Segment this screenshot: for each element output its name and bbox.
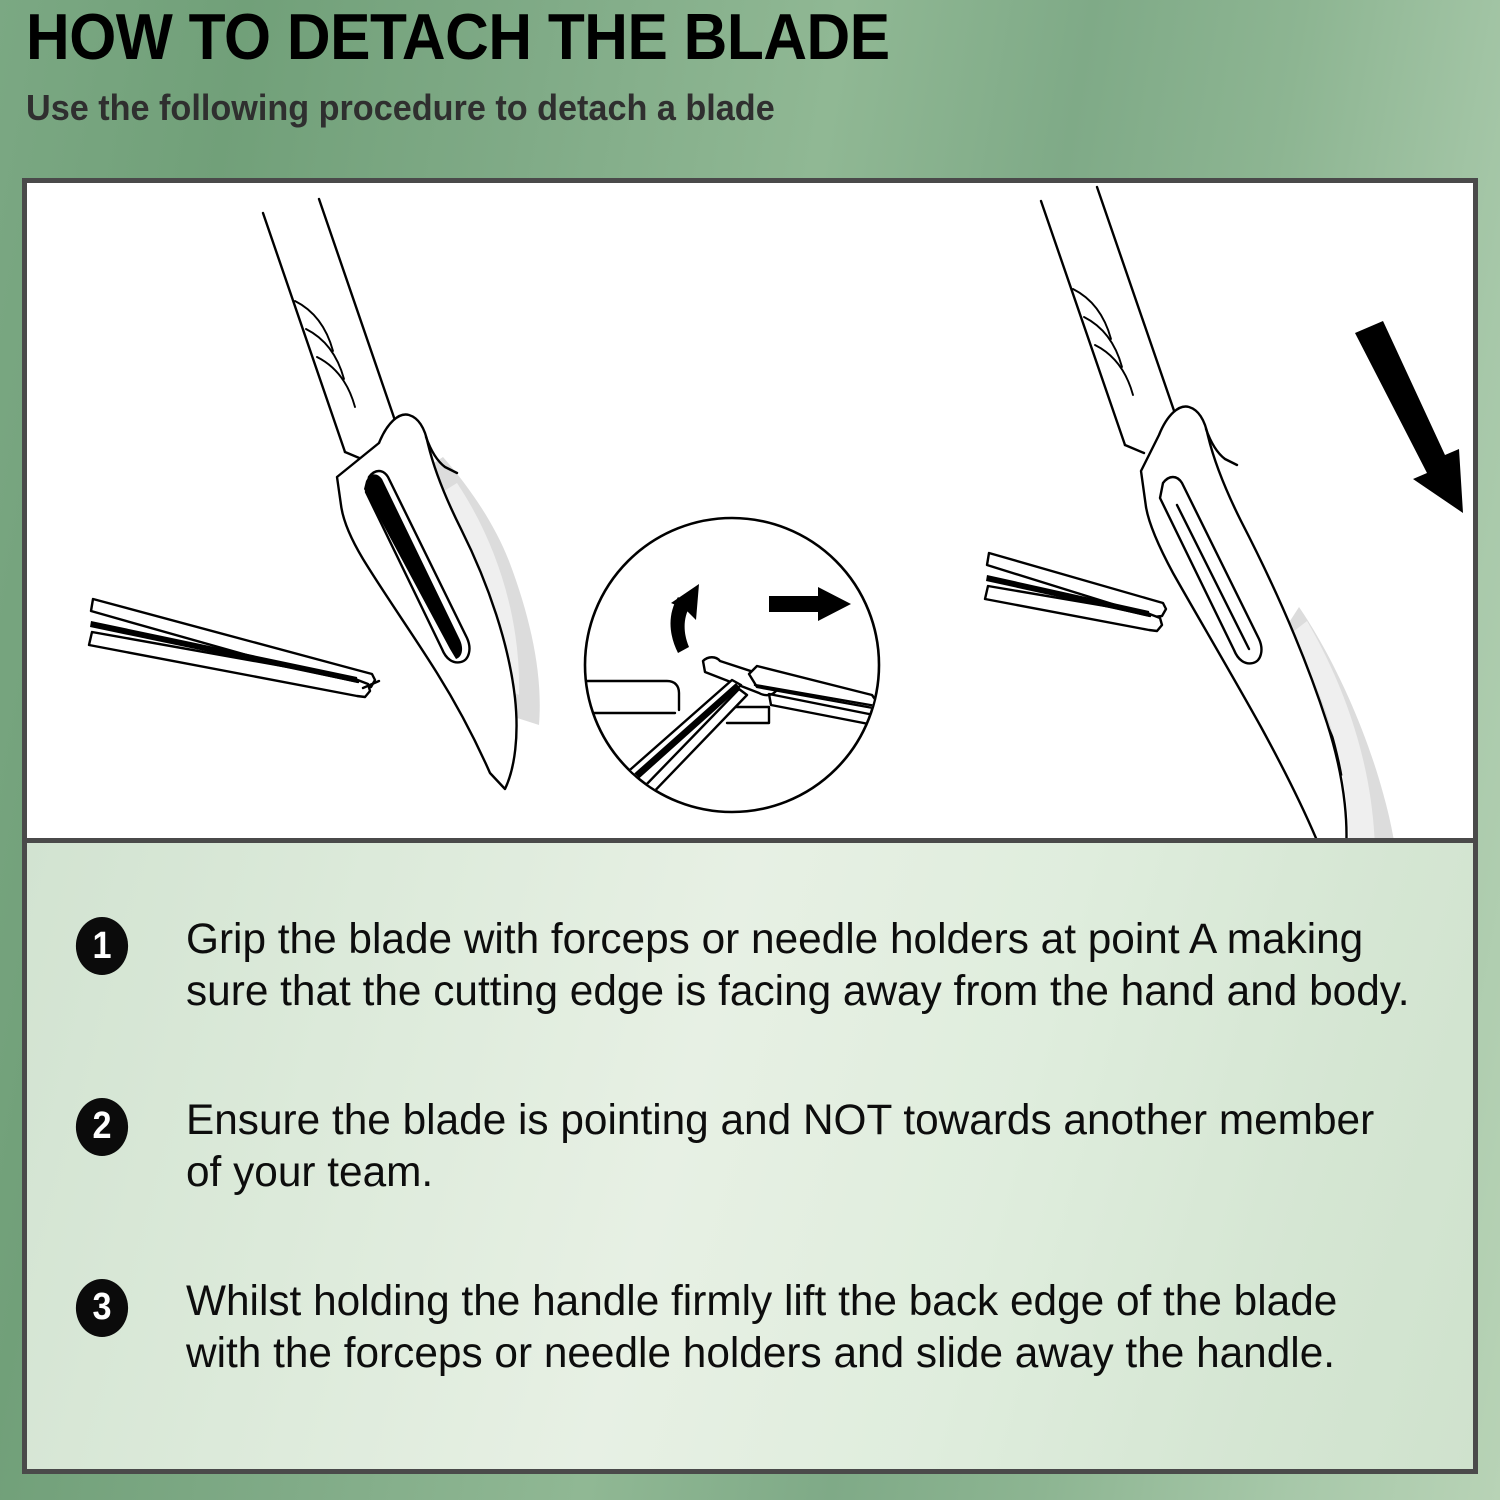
step-number-badge: 3 <box>76 1279 128 1337</box>
step-text: Whilst holding the handle firmly lift th… <box>186 1275 1410 1380</box>
illustration-panel <box>27 183 1473 843</box>
curved-lift-arrow <box>671 584 700 653</box>
list-item: 3 Whilst holding the handle firmly lift … <box>51 1275 1449 1380</box>
figure-grip <box>89 199 540 789</box>
header: HOW TO DETACH THE BLADE Use the followin… <box>26 4 1456 129</box>
figure-detail-circle <box>585 518 879 828</box>
down-right-arrow <box>1355 321 1463 513</box>
content-panel: 1 Grip the blade with forceps or needle … <box>22 178 1478 1474</box>
list-item: 1 Grip the blade with forceps or needle … <box>51 913 1449 1018</box>
scalpel-blade <box>1141 407 1399 838</box>
step-text: Ensure the blade is pointing and NOT tow… <box>186 1094 1410 1199</box>
forceps <box>985 553 1166 631</box>
step-number-badge: 1 <box>76 917 128 975</box>
scalpel-blade <box>337 415 540 789</box>
list-item: 2 Ensure the blade is pointing and NOT t… <box>51 1094 1449 1199</box>
figure-slide-off <box>985 187 1463 838</box>
step-number-badge: 2 <box>76 1098 128 1156</box>
step-text: Grip the blade with forceps or needle ho… <box>186 913 1410 1018</box>
scalpel-handle <box>263 199 401 460</box>
page-subtitle: Use the following procedure to detach a … <box>26 87 1385 129</box>
forceps <box>89 599 379 697</box>
blade-detachment-diagram <box>27 183 1473 838</box>
page-title: HOW TO DETACH THE BLADE <box>26 4 1356 69</box>
scalpel-handle <box>1041 187 1181 453</box>
straight-slide-arrow <box>769 587 851 621</box>
steps-panel: 1 Grip the blade with forceps or needle … <box>27 843 1473 1469</box>
